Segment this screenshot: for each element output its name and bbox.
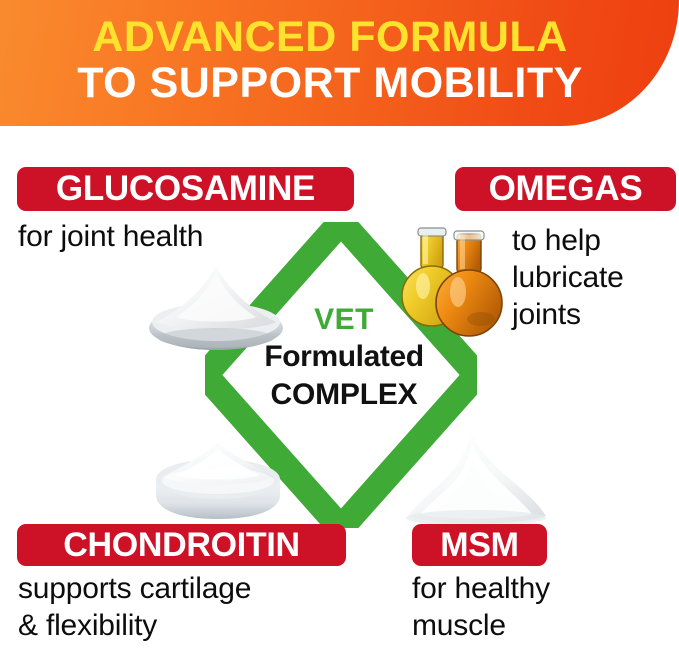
caption-glucosamine: for joint health (18, 218, 348, 255)
center-formulated-label: Formulated (228, 338, 460, 376)
badge-omegas: OMEGAS (455, 167, 676, 211)
caption-line: to help (512, 222, 679, 259)
banner-headline-secondary: TO SUPPORT MOBILITY (20, 60, 640, 106)
caption-line: & flexibility (18, 607, 378, 644)
header-banner: ADVANCED FORMULA TO SUPPORT MOBILITY (0, 0, 679, 126)
msm-powder-pile-image (400, 430, 552, 536)
powder-pile-icon (400, 430, 552, 536)
caption-omegas: to help lubricate joints (512, 222, 679, 333)
badge-msm: MSM (412, 524, 547, 566)
caption-line: for joint health (18, 218, 348, 255)
chondroitin-powder-dish-image (148, 437, 288, 527)
caption-line: joints (512, 296, 679, 333)
badge-glucosamine: GLUCOSAMINE (17, 167, 354, 211)
caption-chondroitin: supports cartilage & flexibility (18, 570, 378, 644)
caption-line: supports cartilage (18, 570, 378, 607)
powder-dish-icon (148, 437, 288, 527)
caption-msm: for healthy muscle (412, 570, 662, 644)
banner-headline-primary: ADVANCED FORMULA (20, 14, 640, 60)
center-vet-label: VET (228, 302, 460, 338)
infographic-canvas: ADVANCED FORMULA TO SUPPORT MOBILITY (0, 0, 679, 654)
caption-line: for healthy (412, 570, 662, 607)
center-lockup: VET Formulated COMPLEX (228, 302, 460, 414)
center-complex-label: COMPLEX (228, 376, 460, 414)
caption-line: muscle (412, 607, 662, 644)
caption-line: lubricate (512, 259, 679, 296)
badge-chondroitin: CHONDROITIN (17, 524, 346, 566)
